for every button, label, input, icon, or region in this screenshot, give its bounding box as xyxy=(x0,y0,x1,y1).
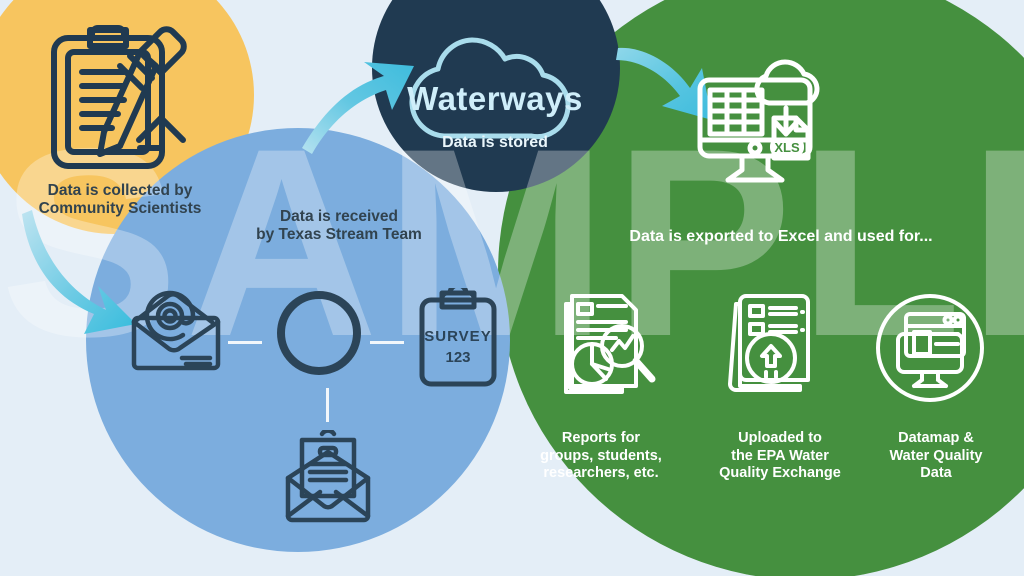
xls-badge-label: XLS xyxy=(774,140,800,155)
letter-mail-icon xyxy=(282,430,374,526)
infographic-canvas: SAMPLE xyxy=(0,0,1024,576)
upload-documents-icon xyxy=(726,292,826,398)
output-label-reports: Reports for groups, students, researcher… xyxy=(521,430,681,483)
connector-left xyxy=(228,341,262,344)
reports-line2: groups, students, xyxy=(521,448,681,466)
reports-chart-magnifier-icon xyxy=(556,292,662,398)
ring-icon xyxy=(272,286,366,380)
received-stage-label: Data is received by Texas Stream Team xyxy=(212,208,466,244)
output-label-datamap: Datamap & Water Quality Data xyxy=(861,430,1011,483)
survey-label-line2: 123 xyxy=(445,349,470,366)
email-at-icon xyxy=(128,288,224,374)
epa-line1: Uploaded to xyxy=(700,430,860,448)
reports-line3: researchers, etc. xyxy=(521,465,681,483)
exported-stage-heading: Data is exported to Excel and used for..… xyxy=(566,228,996,247)
connector-down xyxy=(326,388,329,422)
received-label-line2: by Texas Stream Team xyxy=(212,226,466,244)
collect-stage-label: Data is collected by Community Scientist… xyxy=(8,182,232,218)
reports-line1: Reports for xyxy=(521,430,681,448)
monitor-xls-download-icon: XLS xyxy=(694,56,844,206)
datamap-line3: Data xyxy=(861,465,1011,483)
output-label-epa: Uploaded to the EPA Water Quality Exchan… xyxy=(700,430,860,483)
datamap-line1: Datamap & xyxy=(861,430,1011,448)
epa-line2: the EPA Water xyxy=(700,448,860,466)
datamap-monitor-icon xyxy=(874,292,986,404)
stored-subtitle: Data is stored xyxy=(396,134,594,152)
datamap-line2: Water Quality xyxy=(861,448,1011,466)
waterways-title: Waterways xyxy=(396,80,594,118)
clipboard-pencil-icon xyxy=(42,22,192,172)
received-label-line1: Data is received xyxy=(212,208,466,226)
survey-clipboard-icon: SURVEY 123 xyxy=(416,288,500,388)
survey-label-line1: SURVEY xyxy=(424,328,491,345)
connector-right xyxy=(370,341,404,344)
collect-label-line1: Data is collected by xyxy=(8,182,232,200)
epa-line3: Quality Exchange xyxy=(700,465,860,483)
collect-label-line2: Community Scientists xyxy=(8,200,232,218)
